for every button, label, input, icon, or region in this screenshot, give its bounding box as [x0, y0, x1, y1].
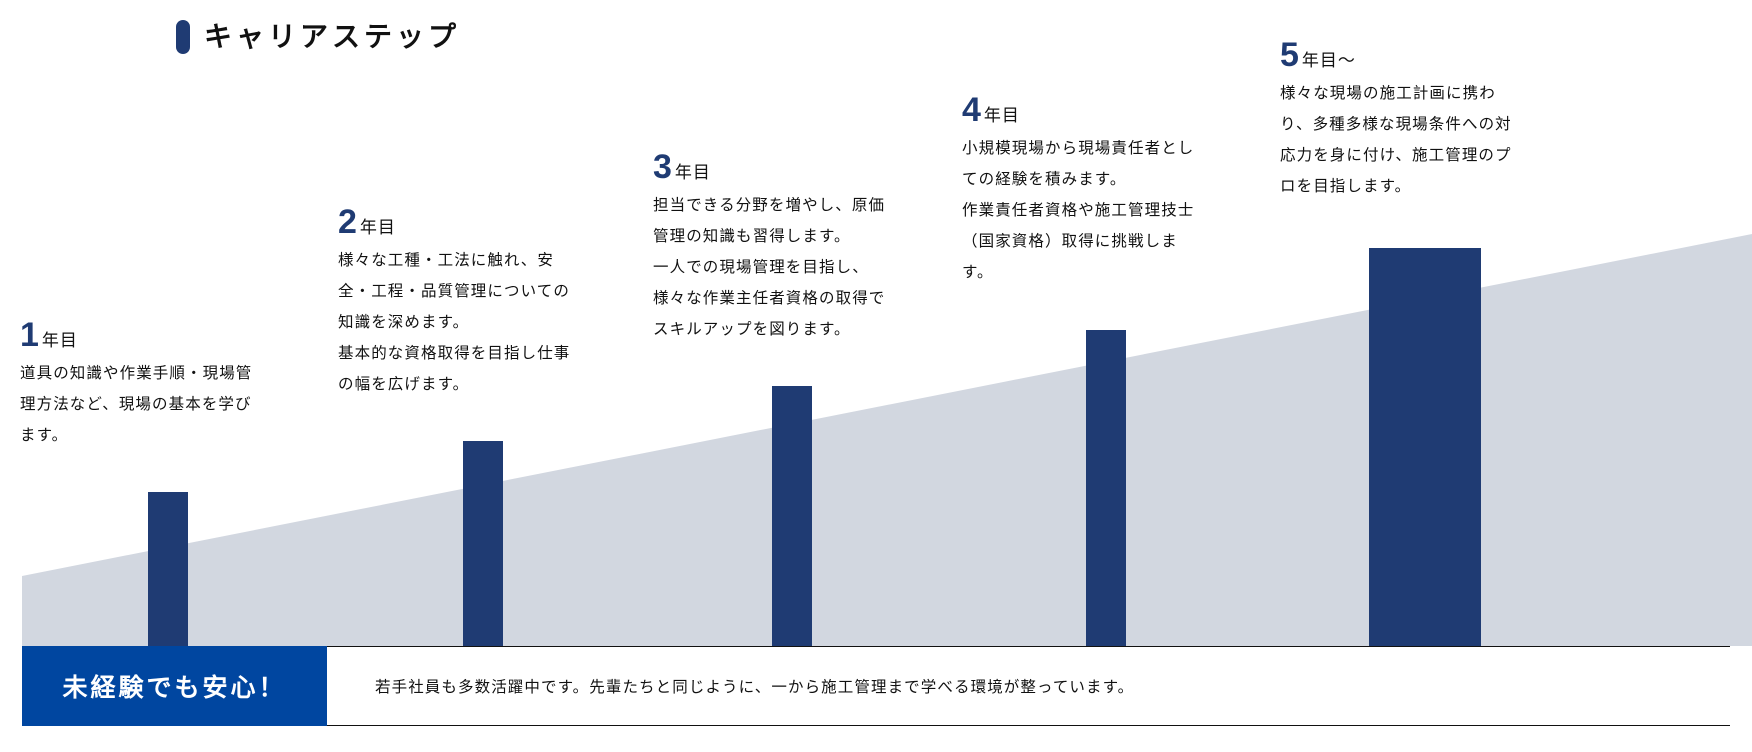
step-description: 小規模現場から現場責任者とし ての経験を積みます。 作業責任者資格や施工管理技士… — [962, 133, 1257, 288]
step-item-year-1: 1年目 道具の知識や作業手順・現場管 理方法など、現場の基本を学び ます。 — [20, 318, 315, 451]
step-number: 2 — [338, 203, 357, 241]
step-unit: 年目 — [984, 106, 1020, 125]
bar-year-5 — [1369, 248, 1481, 646]
step-unit: 年目 — [360, 218, 396, 237]
step-unit: 年目〜 — [1302, 51, 1356, 70]
step-item-year-2: 2年目 様々な工種・工法に触れ、安 全・工程・品質管理についての 知識を深めます… — [338, 205, 633, 400]
step-description: 様々な現場の施工計画に携わ り、多種多様な現場条件への対 応力を身に付け、施工管… — [1280, 78, 1580, 202]
step-heading: 3年目 — [653, 150, 948, 184]
reassurance-banner: 未経験でも安心！ 若手社員も多数活躍中です。先輩たちと同じように、一から施工管理… — [22, 646, 1730, 726]
step-description: 道具の知識や作業手順・現場管 理方法など、現場の基本を学び ます。 — [20, 358, 315, 451]
step-item-year-3: 3年目 担当できる分野を増やし、原価 管理の知識も習得します。 一人での現場管理… — [653, 150, 948, 345]
banner-description: 若手社員も多数活躍中です。先輩たちと同じように、一から施工管理まで学べる環境が整… — [327, 646, 1730, 726]
step-heading: 1年目 — [20, 318, 315, 352]
bar-year-4 — [1086, 330, 1126, 646]
bar-year-3 — [772, 386, 812, 646]
step-heading: 4年目 — [962, 93, 1257, 127]
step-unit: 年目 — [675, 163, 711, 182]
step-description: 担当できる分野を増やし、原価 管理の知識も習得します。 一人での現場管理を目指し… — [653, 190, 948, 345]
step-unit: 年目 — [42, 331, 78, 350]
step-item-year-4: 4年目 小規模現場から現場責任者とし ての経験を積みます。 作業責任者資格や施工… — [962, 93, 1257, 288]
career-step-infographic: キャリアステップ 1年目 道具の知識や作業手順・現場管 理方法など、現場の基本を… — [0, 0, 1752, 752]
step-heading: 2年目 — [338, 205, 633, 239]
step-number: 5 — [1280, 36, 1299, 74]
step-number: 1 — [20, 316, 39, 354]
step-number: 4 — [962, 91, 981, 129]
bar-year-1 — [148, 492, 188, 646]
bar-year-2 — [463, 441, 503, 646]
step-description: 様々な工種・工法に触れ、安 全・工程・品質管理についての 知識を深めます。 基本… — [338, 245, 633, 400]
step-number: 3 — [653, 148, 672, 186]
step-item-year-5: 5年目〜 様々な現場の施工計画に携わ り、多種多様な現場条件への対 応力を身に付… — [1280, 38, 1580, 202]
banner-label: 未経験でも安心！ — [22, 646, 327, 726]
step-heading: 5年目〜 — [1280, 38, 1580, 72]
